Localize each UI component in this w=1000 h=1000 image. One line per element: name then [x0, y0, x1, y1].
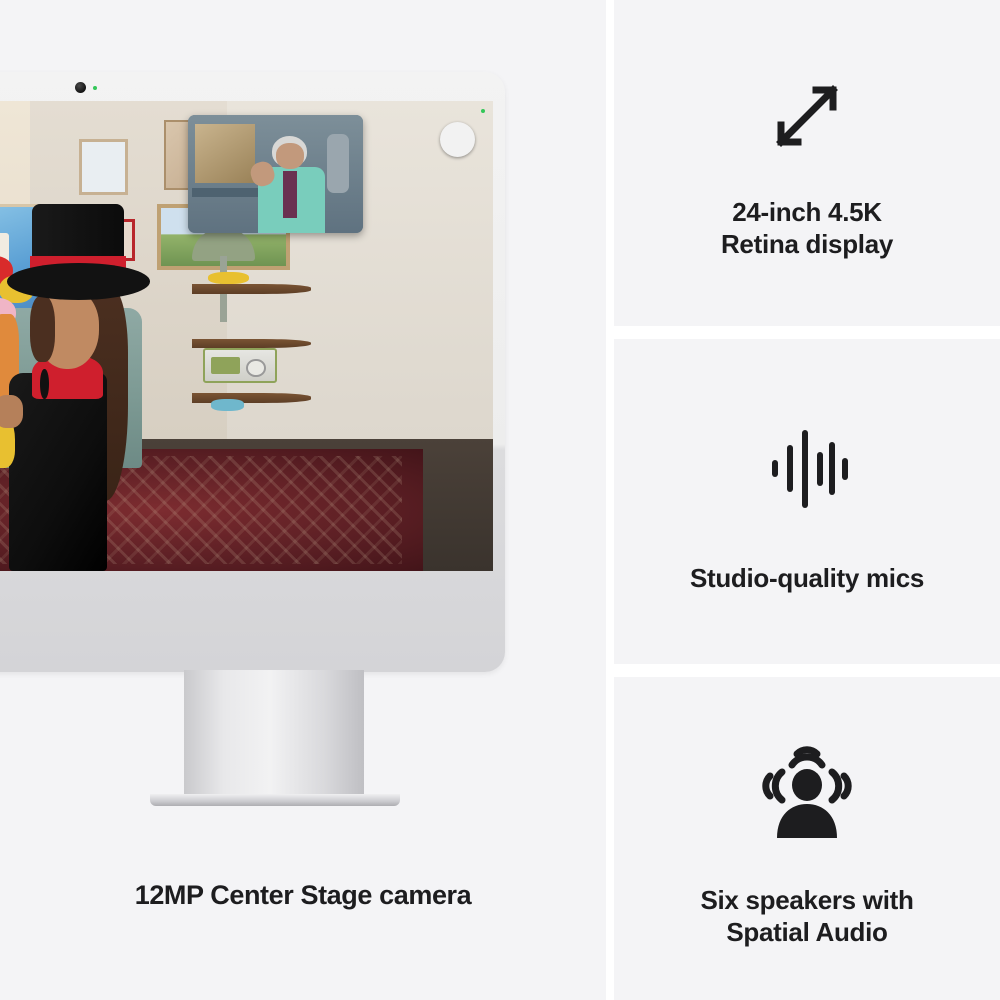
camera-feature-caption: 12MP Center Stage camera — [0, 880, 606, 911]
imac-stand-neck — [184, 670, 364, 798]
scene-girl-cape — [9, 373, 108, 571]
camera-led-indicator — [93, 86, 97, 90]
scene-radio-speaker — [211, 357, 240, 374]
pip-person-vest — [283, 171, 297, 218]
scene-girl-top-hat-brim — [7, 263, 150, 300]
imac-display-screen[interactable] — [0, 101, 493, 571]
scene-toy-object — [208, 272, 249, 285]
feature-card-mics-label: Studio-quality mics — [690, 563, 924, 595]
feature-cards-column: 24-inch 4.5K Retina display Studio-quali… — [614, 0, 1000, 1000]
feature-card-display[interactable]: 24-inch 4.5K Retina display — [614, 0, 1000, 326]
feature-card-speakers[interactable]: Six speakers with Spatial Audio — [614, 677, 1000, 1000]
facetime-video-scene — [0, 101, 493, 571]
feature-card-mics[interactable]: Studio-quality mics — [614, 339, 1000, 664]
scene-girl-hair-front — [30, 296, 55, 362]
feature-card-display-label: 24-inch 4.5K Retina display — [721, 197, 893, 260]
pip-microphone — [327, 134, 350, 193]
scene-toy-object-2 — [211, 399, 244, 410]
scene-girl-cape-tie — [40, 369, 48, 398]
camera-lens-icon — [75, 82, 86, 93]
feature-card-speakers-label: Six speakers with Spatial Audio — [700, 885, 913, 948]
scene-girl-magician — [2, 204, 212, 571]
pip-shelf — [192, 188, 269, 197]
imac-stand-foot — [150, 794, 400, 806]
audio-waveform-icon — [752, 413, 862, 523]
page-root: 12MP Center Stage camera 24-inch 4.5K Re… — [0, 0, 1000, 1000]
expand-diagonal-arrows-icon — [752, 61, 862, 171]
pip-person-face — [276, 143, 304, 169]
scene-girl-arm — [0, 395, 23, 428]
imac-device — [0, 72, 505, 672]
facetime-pip-window[interactable] — [188, 115, 363, 233]
imac-showcase-panel: 12MP Center Stage camera — [0, 0, 606, 1000]
screen-status-led — [481, 109, 485, 113]
scene-radio — [203, 348, 277, 383]
spatial-audio-person-icon — [752, 735, 862, 845]
pip-wall-art — [195, 124, 255, 183]
scene-wall-frame-3 — [79, 139, 128, 195]
